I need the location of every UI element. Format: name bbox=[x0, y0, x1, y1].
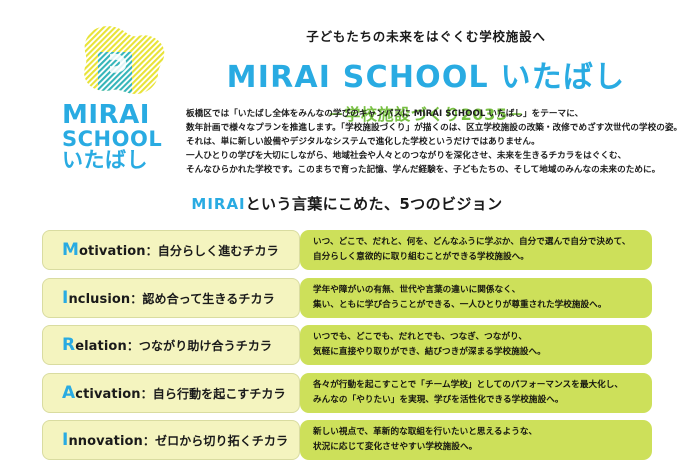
logo-wordmark-line3: いたばし bbox=[62, 150, 188, 171]
vision-label-box: Inclusion：認め合って生きるチカラ bbox=[42, 278, 300, 318]
vision-row: Innovation：ゼロから切り拓くチカラ 新しい視点で、革新的な取組を行いた… bbox=[0, 420, 694, 468]
vision-label-box: Activation：自ら行動を起こすチカラ bbox=[42, 373, 300, 413]
vision-word: ctivation bbox=[75, 387, 140, 402]
vision-word: otivation bbox=[79, 244, 146, 259]
vision-section-heading: MIRAIという言葉にこめた、5つのビジョン bbox=[0, 193, 694, 214]
vision-label: Motivation：自分らしく進むチカラ bbox=[43, 240, 279, 260]
vision-jp-label: 自分らしく進むチカラ bbox=[158, 244, 279, 258]
vision-word: nclusion bbox=[68, 292, 130, 307]
logo-block: MIRAI SCHOOL いたばし bbox=[62, 22, 188, 171]
vision-description: 学年や障がいの有無、世代や言葉の違いに関係なく、 集い、ともに学び合うことができ… bbox=[300, 283, 619, 313]
poster-header: MIRAI SCHOOL いたばし 子どもたちの未来をはぐくむ学校施設へ MIR… bbox=[0, 0, 694, 190]
vision-label-box: Motivation：自分らしく進むチカラ bbox=[42, 230, 300, 270]
logo-wordmark-line1: MIRAI bbox=[62, 102, 188, 129]
mirai-school-blob-logo-icon bbox=[68, 22, 176, 100]
vision-label: Activation：自ら行動を起こすチカラ bbox=[43, 383, 286, 403]
vision-jp-label: つながり助け合うチカラ bbox=[139, 339, 272, 353]
vision-separator: ： bbox=[143, 434, 155, 448]
vision-jp-label: 認め合って生きるチカラ bbox=[142, 292, 274, 306]
vision-row: Motivation：自分らしく進むチカラ いつ、どこで、だれと、何を、どんなふ… bbox=[0, 230, 694, 278]
vision-separator: ： bbox=[127, 339, 139, 353]
vision-label: Inclusion：認め合って生きるチカラ bbox=[43, 288, 275, 308]
vision-jp-label: ゼロから切り拓くチカラ bbox=[155, 434, 288, 448]
vision-row: Inclusion：認め合って生きるチカラ 学年や障がいの有無、世代や言葉の違い… bbox=[0, 278, 694, 326]
vision-separator: ： bbox=[141, 387, 153, 401]
vision-heading-rest: という言葉にこめた、5つのビジョン bbox=[246, 195, 503, 213]
vision-heading-accent: MIRAI bbox=[191, 195, 245, 213]
vision-description-box: 各々が行動を起こすことで「チーム学校」としてのパフォーマンスを最大化し、 みんな… bbox=[300, 373, 652, 413]
page-title: MIRAI SCHOOL いたばし bbox=[186, 52, 666, 96]
vision-separator: ： bbox=[146, 244, 158, 258]
vision-label-box: Innovation：ゼロから切り拓くチカラ bbox=[42, 420, 300, 460]
vision-rows: Motivation：自分らしく進むチカラ いつ、どこで、だれと、何を、どんなふ… bbox=[0, 230, 694, 468]
vision-description-box: 新しい視点で、革新的な取組を行いたいと思えるような、 状況に応じて変化させやすい… bbox=[300, 420, 652, 460]
vision-label: Relation：つながり助け合うチカラ bbox=[43, 335, 272, 355]
vision-description: いつ、どこで、だれと、何を、どんなふうに学ぶか、自分で選んで自分で決めて、 自分… bbox=[300, 235, 644, 265]
logo-wordmark-line2: SCHOOL bbox=[62, 129, 188, 150]
poster-page: MIRAI SCHOOL いたばし 子どもたちの未来をはぐくむ学校施設へ MIR… bbox=[0, 0, 694, 476]
vision-jp-label: 自ら行動を起こすチカラ bbox=[153, 387, 286, 401]
vision-initial: R bbox=[62, 335, 75, 355]
vision-description-box: いつでも、どこでも、だれとでも、つなぎ、つながり、 気軽に直接やり取りができ、結… bbox=[300, 325, 652, 365]
vision-row: Activation：自ら行動を起こすチカラ 各々が行動を起こすことで「チーム学… bbox=[0, 373, 694, 421]
vision-description: 新しい視点で、革新的な取組を行いたいと思えるような、 状況に応じて変化させやすい… bbox=[300, 425, 550, 455]
vision-word: elation bbox=[75, 339, 127, 354]
vision-description: いつでも、どこでも、だれとでも、つなぎ、つながり、 気軽に直接やり取りができ、結… bbox=[300, 330, 559, 360]
vision-label: Innovation：ゼロから切り拓くチカラ bbox=[43, 430, 288, 450]
vision-description: 各々が行動を起こすことで「チーム学校」としてのパフォーマンスを最大化し、 みんな… bbox=[300, 378, 636, 408]
vision-initial: M bbox=[62, 240, 79, 260]
header-body-copy: 板橋区では「いたばし全体をみんなの学びのキャンパスに MIRAI SCHOOL … bbox=[186, 108, 686, 178]
vision-description-box: 学年や障がいの有無、世代や言葉の違いに関係なく、 集い、ともに学び合うことができ… bbox=[300, 278, 652, 318]
logo-wordmark: MIRAI SCHOOL いたばし bbox=[62, 102, 188, 171]
header-tagline: 子どもたちの未来をはぐくむ学校施設へ bbox=[186, 26, 666, 45]
vision-description-box: いつ、どこで、だれと、何を、どんなふうに学ぶか、自分で選んで自分で決めて、 自分… bbox=[300, 230, 652, 270]
vision-initial: A bbox=[62, 383, 75, 403]
vision-separator: ： bbox=[130, 292, 142, 306]
vision-label-box: Relation：つながり助け合うチカラ bbox=[42, 325, 300, 365]
vision-row: Relation：つながり助け合うチカラ いつでも、どこでも、だれとでも、つなぎ… bbox=[0, 325, 694, 373]
vision-word: nnovation bbox=[68, 434, 142, 449]
